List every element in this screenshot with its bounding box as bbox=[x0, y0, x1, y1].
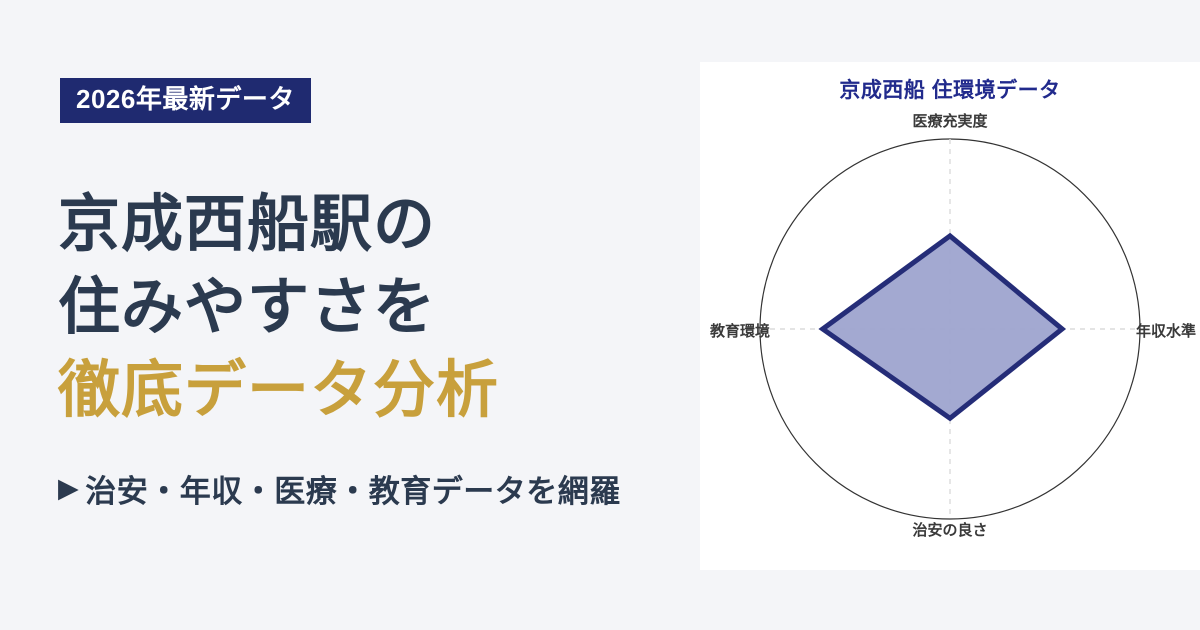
headline-line-2: 住みやすさを bbox=[58, 266, 698, 349]
headline-line-1: 京成西船駅の bbox=[58, 183, 698, 266]
radar-axis-label-right: 年収水準 bbox=[1136, 320, 1196, 341]
chart-panel: 京成西船 住環境データ 医療充実度 年収水準 治安の良さ 教育環境 bbox=[700, 62, 1200, 570]
radar-axis-label-bottom: 治安の良さ bbox=[700, 519, 1200, 540]
play-triangle-icon: ▶ bbox=[58, 475, 79, 502]
subtitle: ▶ 治安・年収・医療・教育データを網羅 bbox=[58, 466, 621, 511]
radar-chart: 医療充実度 年収水準 治安の良さ 教育環境 bbox=[700, 62, 1200, 570]
radar-series-polygon bbox=[823, 236, 1062, 418]
radar-axis-label-top: 医療充実度 bbox=[700, 110, 1200, 131]
subtitle-text: 治安・年収・医療・教育データを網羅 bbox=[85, 466, 621, 511]
headline-line-3-accent: 徹底データ分析 bbox=[58, 349, 698, 432]
radar-chart-svg bbox=[700, 62, 1200, 570]
hero-left-column: 2026年最新データ 京成西船駅の 住みやすさを 徹底データ分析 ▶ 治安・年収… bbox=[0, 0, 700, 630]
page-title: 京成西船駅の 住みやすさを 徹底データ分析 bbox=[58, 183, 698, 432]
date-badge: 2026年最新データ bbox=[60, 78, 311, 123]
radar-axis-label-left: 教育環境 bbox=[710, 320, 770, 341]
